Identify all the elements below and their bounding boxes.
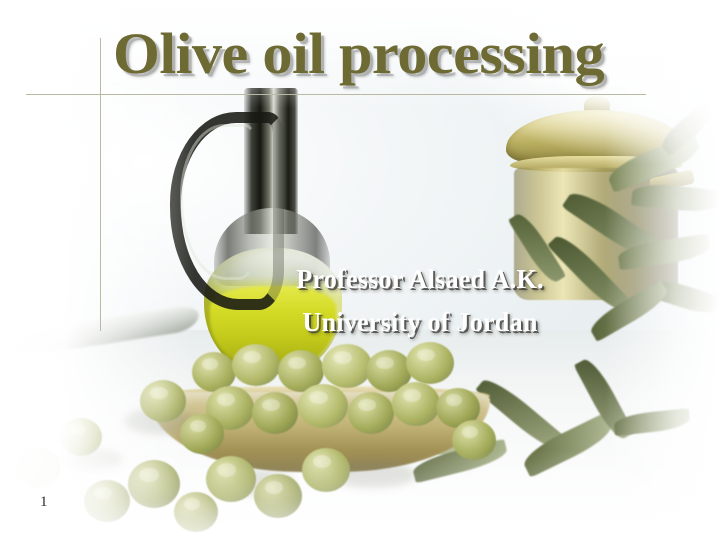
subtitle-block: Professor Alsaed A.K. University of Jord… bbox=[210, 258, 630, 344]
subtitle-line-affiliation: University of Jordan bbox=[216, 301, 623, 344]
horizontal-divider-line bbox=[26, 94, 646, 95]
title-slide: Olive oil processing Professor Alsaed A.… bbox=[0, 0, 720, 540]
slide-number: 1 bbox=[40, 494, 48, 511]
vertical-divider-line bbox=[100, 38, 101, 331]
page-title: Olive oil processing bbox=[113, 21, 654, 87]
subtitle-line-presenter: Professor Alsaed A.K. bbox=[216, 258, 623, 301]
